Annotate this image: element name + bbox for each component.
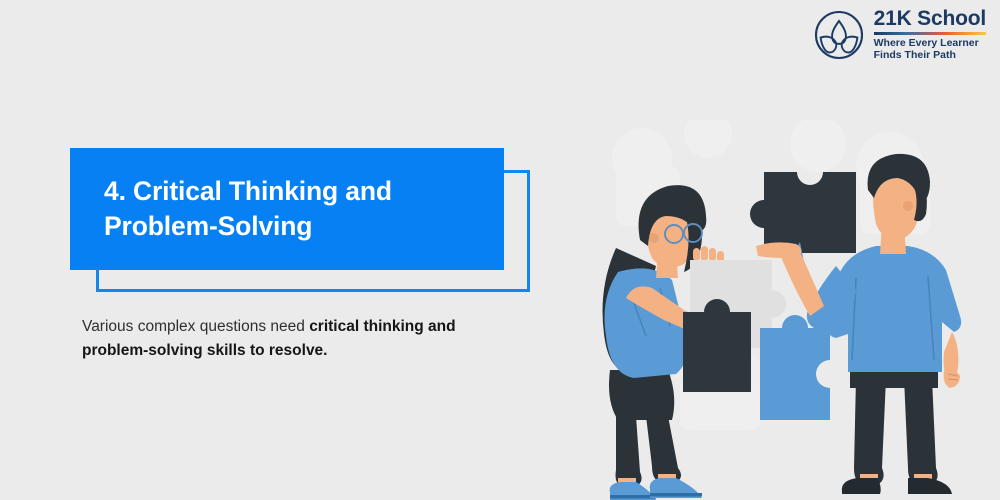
page-title-line-1: 4. Critical Thinking and xyxy=(104,174,392,209)
body-paragraph: Various complex questions need critical … xyxy=(82,315,522,362)
two-people-assembling-puzzle-pieces-illustration xyxy=(560,120,990,500)
body-lead-text: Various complex questions need xyxy=(82,318,309,335)
lotus-circle-logo-icon xyxy=(813,9,865,61)
puzzle-piece-dark-bottom xyxy=(683,299,751,392)
puzzle-piece-blue-bottom xyxy=(760,315,830,420)
logo-tagline: Where Every Learner Finds Their Path xyxy=(874,37,979,63)
logo-brand-name: 21K School xyxy=(874,8,986,30)
page-title: 4. Critical Thinking and Problem-Solving xyxy=(70,174,392,244)
logo-gradient-rule xyxy=(874,32,986,35)
logo-tagline-line-2: Finds Their Path xyxy=(874,49,979,62)
logo-wordmark: 21K School Where Every Learner Finds The… xyxy=(874,8,986,62)
title-card: 4. Critical Thinking and Problem-Solving xyxy=(70,148,504,270)
title-block: 4. Critical Thinking and Problem-Solving xyxy=(70,148,530,293)
page-title-line-2: Problem-Solving xyxy=(104,209,392,244)
woman-fingers xyxy=(693,246,724,262)
slide-canvas: 21K School Where Every Learner Finds The… xyxy=(0,0,1000,500)
puzzle-piece-dark-top xyxy=(750,172,856,253)
brand-logo: 21K School Where Every Learner Finds The… xyxy=(813,8,986,62)
logo-tagline-line-1: Where Every Learner xyxy=(874,37,979,50)
